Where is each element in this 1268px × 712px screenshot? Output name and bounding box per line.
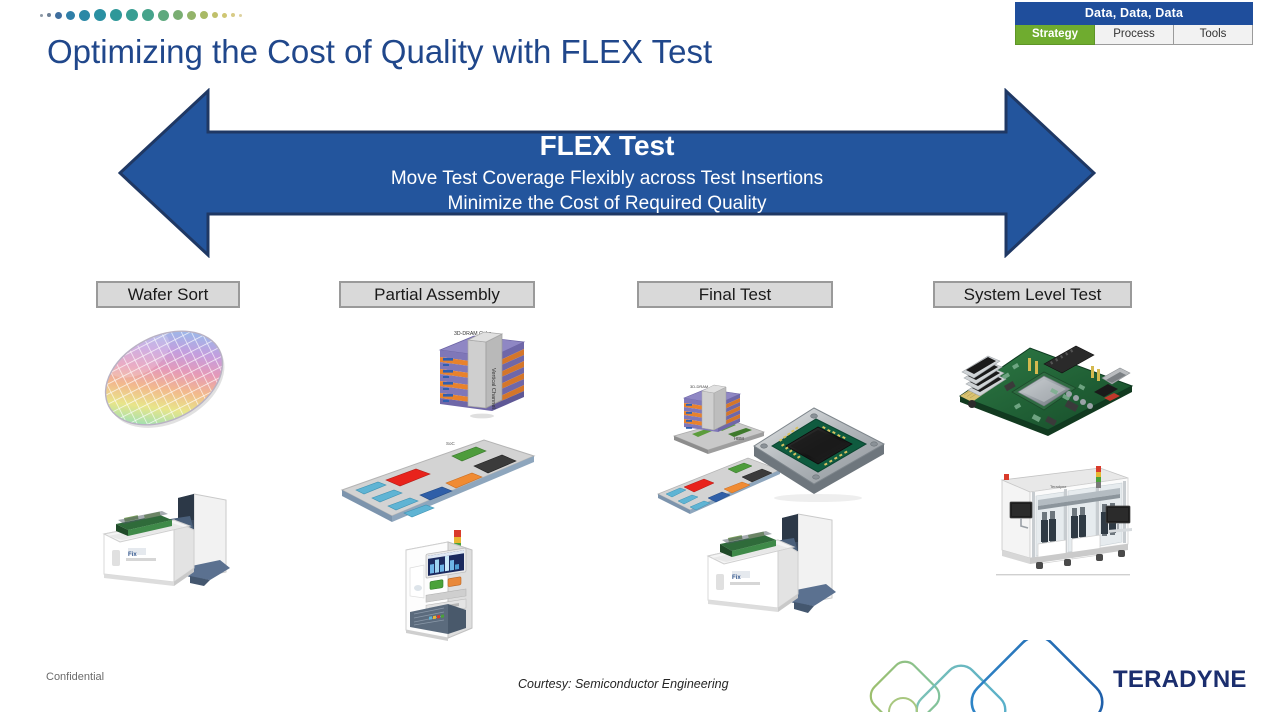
package-substrate-board-image: SoC: [334, 438, 540, 524]
flex-test-arrow-banner: FLEX Test Move Test Coverage Flexibly ac…: [118, 88, 1096, 258]
gradient-dot-4: [79, 10, 90, 21]
gradient-dot-5: [94, 9, 106, 21]
gradient-dot-15: [231, 13, 235, 17]
final-test-handler-image: Fix: [702, 508, 842, 620]
confidential-label: Confidential: [46, 671, 104, 683]
svg-text:Fix: Fix: [128, 552, 137, 558]
page-title: Optimizing the Cost of Quality with FLEX…: [47, 33, 712, 71]
tab-process[interactable]: Process: [1095, 25, 1174, 45]
svg-text:SoC: SoC: [446, 441, 456, 446]
svg-text:Fix: Fix: [732, 575, 741, 581]
server-pcb-board-image: [952, 336, 1138, 444]
gradient-dot-2: [55, 12, 62, 19]
decorative-corner-shapes: [855, 640, 1155, 712]
column-header-wafer-sort[interactable]: Wafer Sort: [96, 281, 240, 308]
svg-text:3D-DRAM: 3D-DRAM: [690, 384, 708, 389]
courtesy-label: Courtesy: Semiconductor Engineering: [518, 677, 729, 691]
ate-tester-tower-image: [396, 528, 480, 643]
column-header-system-level-test[interactable]: System Level Test: [933, 281, 1132, 308]
gradient-dot-14: [222, 13, 227, 18]
teradyne-logo: TERADYNE: [1113, 666, 1247, 694]
data-data-data-badge: Data, Data, Data Strategy Process Tools: [1015, 2, 1253, 45]
tab-strategy[interactable]: Strategy: [1015, 25, 1095, 45]
badge-title: Data, Data, Data: [1015, 2, 1253, 25]
gradient-dot-12: [200, 11, 208, 19]
gradient-dot-13: [212, 12, 218, 18]
gradient-dot-0: [40, 14, 43, 17]
gradient-dot-6: [110, 9, 122, 21]
gradient-dot-8: [142, 9, 154, 21]
3d-dram-cube-image: 3D-DRAM Cube: [434, 328, 530, 420]
vertical-channel-label: Vertical Channel: [490, 368, 496, 409]
gradient-dot-9: [158, 10, 169, 21]
gradient-dot-3: [66, 11, 75, 20]
svg-text:HBM: HBM: [734, 436, 744, 441]
gradient-dot-16: [239, 14, 242, 17]
slide-canvas: Data, Data, Data Strategy Process Tools …: [0, 0, 1268, 712]
slt-test-cell-image: Teradyne: [988, 458, 1138, 578]
gradient-dot-11: [187, 11, 196, 20]
badge-tab-bar[interactable]: Strategy Process Tools: [1015, 25, 1253, 45]
tab-tools[interactable]: Tools: [1174, 25, 1253, 45]
flip-chip-bga-package-image: [748, 396, 890, 504]
wafer-prober-handler-image: Fix: [98, 490, 238, 590]
silicon-wafer-image: [98, 328, 230, 428]
column-header-final-test[interactable]: Final Test: [637, 281, 833, 308]
gradient-dot-1: [47, 13, 51, 17]
gradient-dot-7: [126, 9, 138, 21]
gradient-dot-10: [173, 10, 183, 20]
decorative-dot-gradient: [40, 6, 242, 24]
column-header-partial-assembly[interactable]: Partial Assembly: [339, 281, 535, 308]
svg-text:Teradyne: Teradyne: [1050, 484, 1067, 489]
double-arrow-shape: [120, 91, 1094, 255]
